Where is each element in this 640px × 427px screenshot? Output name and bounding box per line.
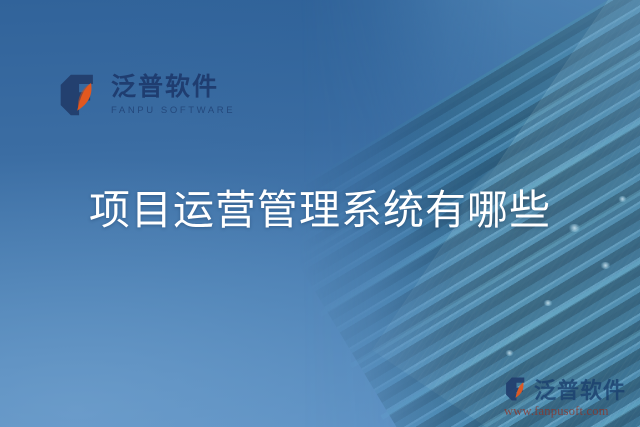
brand-logo: 泛普软件 FANPU SOFTWARE [57, 72, 235, 118]
fanpu-logo-icon [504, 376, 530, 402]
brand-name-cn: 泛普软件 [111, 75, 235, 100]
watermark-name: 泛普软件 [534, 373, 626, 405]
brand-name-en: FANPU SOFTWARE [111, 106, 235, 116]
watermark-url: www.fanpusoft.com [504, 404, 636, 419]
site-watermark: 泛普软件 www.fanpusoft.com [504, 373, 636, 419]
watermark-logo-row: 泛普软件 [504, 373, 636, 405]
promo-banner: 泛普软件 FANPU SOFTWARE 项目运营管理系统有哪些 泛普软件 www… [0, 0, 640, 427]
brand-wordmark: 泛普软件 FANPU SOFTWARE [111, 75, 235, 116]
banner-headline: 项目运营管理系统有哪些 [0, 186, 640, 234]
fanpu-logo-icon [57, 72, 103, 118]
